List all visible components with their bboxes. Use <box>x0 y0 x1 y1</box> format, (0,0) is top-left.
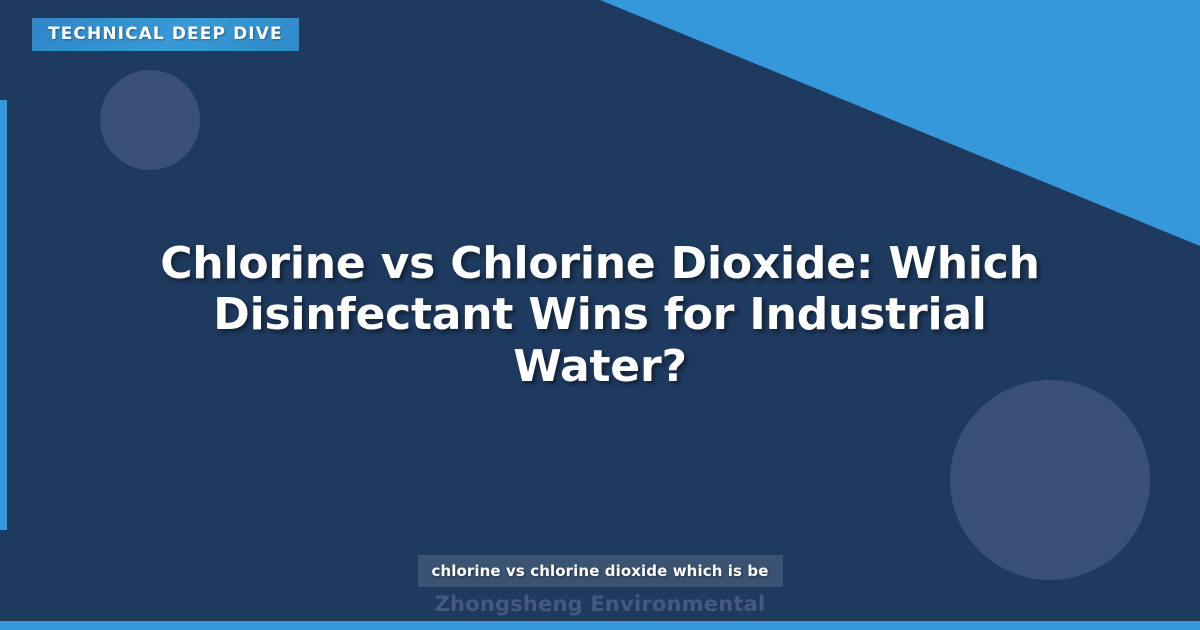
keyword-tag-chip: chlorine vs chlorine dioxide which is be <box>418 555 783 587</box>
category-badge: TECHNICAL DEEP DIVE <box>32 18 299 51</box>
footer-meta: chlorine vs chlorine dioxide which is be… <box>0 555 1200 616</box>
brand-name: Zhongsheng Environmental <box>0 593 1200 616</box>
diagonal-wedge-decoration <box>600 0 1200 246</box>
decorative-circle-bottom-right <box>950 380 1150 580</box>
category-badge-label: TECHNICAL DEEP DIVE <box>48 26 283 43</box>
keyword-tag-label: chlorine vs chlorine dioxide which is be <box>432 562 769 580</box>
headline-container: Chlorine vs Chlorine Dioxide: Which Disi… <box>0 238 1200 392</box>
decorative-circle-top-left <box>100 70 200 170</box>
page-title: Chlorine vs Chlorine Dioxide: Which Disi… <box>130 238 1070 392</box>
social-share-card: TECHNICAL DEEP DIVE Chlorine vs Chlorine… <box>0 0 1200 630</box>
bottom-accent-strip <box>0 621 1200 630</box>
